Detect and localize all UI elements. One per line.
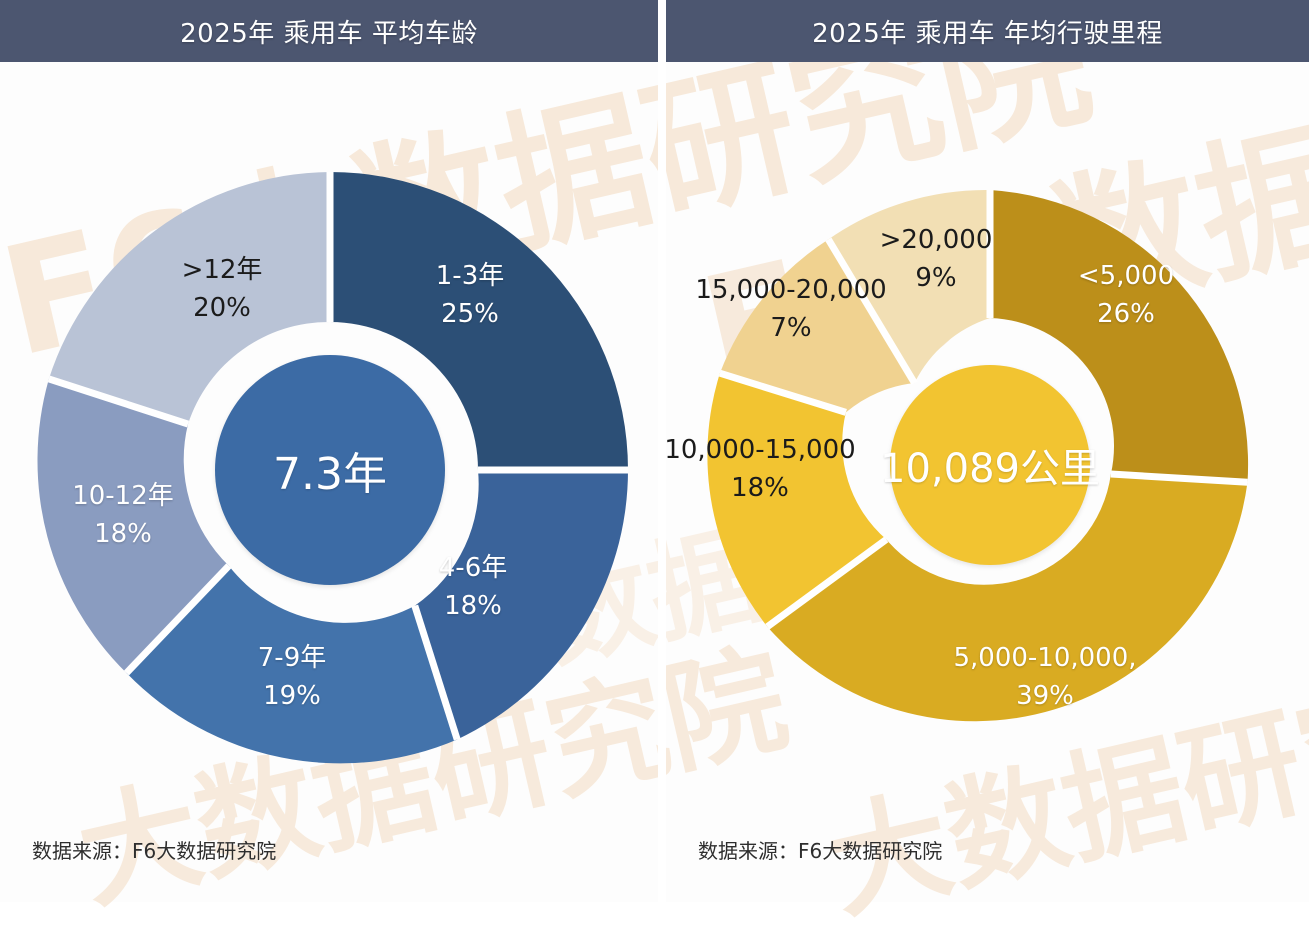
right-center-value: 10,089公里	[880, 436, 1100, 494]
left-center-hub: 7.3年	[215, 355, 445, 585]
infographic-canvas: F6大数据研究院 大数据研究院 F6大数据研究院 大数据研究院 大数据 2025…	[0, 0, 1309, 902]
left-source-note: 数据来源：F6大数据研究院	[32, 835, 276, 864]
right-source-note: 数据来源：F6大数据研究院	[698, 835, 942, 864]
panel-average-vehicle-age: 2025年 乘用车 平均车龄	[0, 0, 658, 902]
right-center-hub: 10,089公里	[890, 365, 1090, 565]
left-center-value: 7.3年	[273, 438, 387, 502]
